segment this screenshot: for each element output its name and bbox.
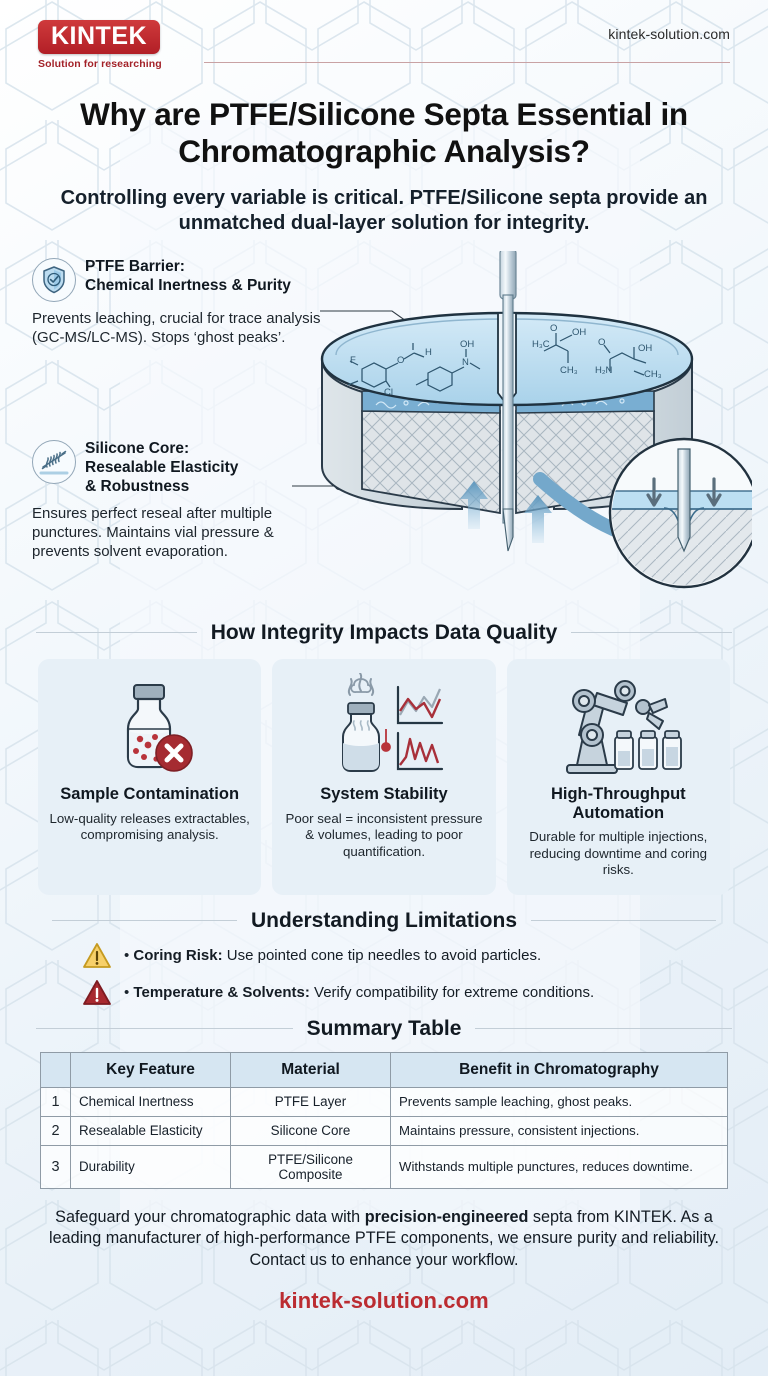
svg-text:N: N — [462, 357, 469, 368]
row-benefit: Maintains pressure, consistent injection… — [391, 1116, 728, 1145]
feature-ptfe-title-line1: PTFE Barrier: — [85, 258, 291, 277]
svg-text:CH₃: CH₃ — [644, 369, 662, 380]
svg-text:OH: OH — [638, 343, 652, 354]
impact-cards: Sample Contamination Low-quality release… — [38, 659, 730, 895]
footer-paragraph: Safeguard your chromatographic data with… — [48, 1207, 720, 1271]
page-header: KINTEK Solution for researching kintek-s… — [22, 0, 746, 78]
summary-table-head: Key Feature Material Benefit in Chromato… — [41, 1052, 728, 1087]
svg-text:O: O — [397, 355, 404, 366]
page-title: Why are PTFE/Silicone Septa Essential in… — [22, 96, 746, 170]
row-index: 2 — [41, 1116, 71, 1145]
septum-cutaway-illustration: F Cl O H N OH — [292, 251, 752, 626]
bullet-marker: • — [124, 947, 133, 964]
contaminated-vial-icon — [98, 671, 202, 779]
svg-text:OH: OH — [460, 339, 474, 350]
summary-table-body: 1 Chemical Inertness PTFE Layer Prevents… — [41, 1087, 728, 1188]
svg-text:CH₃: CH₃ — [560, 365, 578, 376]
limitation-text: • Temperature & Solvents: Verify compati… — [124, 983, 594, 1003]
impact-card-title: Sample Contamination — [60, 785, 239, 804]
divider-right — [475, 1028, 732, 1029]
feature-ptfe-barrier: PTFE Barrier: Chemical Inertness & Purit… — [32, 257, 332, 347]
divider-right — [531, 920, 716, 921]
row-benefit: Prevents sample leaching, ghost peaks. — [391, 1087, 728, 1116]
impact-card-body: Durable for multiple injections, reducin… — [516, 829, 721, 879]
footer-website-url[interactable]: kintek-solution.com — [48, 1288, 720, 1314]
limitation-detail: Use pointed cone tip needles to avoid pa… — [223, 947, 542, 964]
footer-text-before: Safeguard your chromatographic data with — [55, 1208, 365, 1226]
divider-left — [36, 1028, 293, 1029]
impact-card-title: System Stability — [320, 785, 447, 804]
header-website-url[interactable]: kintek-solution.com — [608, 26, 730, 42]
limitation-item-temperature-solvents: • Temperature & Solvents: Verify compati… — [38, 979, 730, 1007]
svg-text:O: O — [598, 337, 605, 348]
impact-card-sample-contamination[interactable]: Sample Contamination Low-quality release… — [38, 659, 261, 895]
footer-bold-phrase: precision-engineered — [365, 1208, 529, 1226]
svg-text:O: O — [550, 323, 557, 334]
limitation-label: Coring Risk: — [133, 947, 222, 964]
feature-silicone-title-line3: & Robustness — [85, 478, 238, 497]
feature-ptfe-body: Prevents leaching, crucial for trace ana… — [32, 309, 332, 347]
feature-ptfe-title: PTFE Barrier: Chemical Inertness & Purit… — [85, 257, 291, 296]
logo-tagline: Solution for researching — [38, 58, 238, 70]
impact-card-body: Poor seal = inconsistent pressure & volu… — [281, 811, 486, 861]
page-footer: Safeguard your chromatographic data with… — [48, 1207, 720, 1314]
row-feature: Resealable Elasticity — [71, 1116, 231, 1145]
summary-section-header: Summary Table — [36, 1017, 732, 1041]
feature-silicone-title-line1: Silicone Core: — [85, 440, 238, 459]
warning-triangle-yellow-icon — [80, 942, 114, 970]
limitations-section-title: Understanding Limitations — [251, 909, 517, 933]
column-header-key-feature: Key Feature — [71, 1052, 231, 1087]
column-header-benefit: Benefit in Chromatography — [391, 1052, 728, 1087]
evaporating-vial-chart-icon — [320, 671, 448, 779]
hero-diagram-section: PTFE Barrier: Chemical Inertness & Purit… — [22, 251, 746, 621]
row-feature: Durability — [71, 1145, 231, 1188]
limitation-text: • Coring Risk: Use pointed cone tip need… — [124, 946, 541, 966]
limitation-label: Temperature & Solvents: — [133, 984, 309, 1001]
row-feature: Chemical Inertness — [71, 1087, 231, 1116]
summary-table-wrapper: Key Feature Material Benefit in Chromato… — [40, 1052, 728, 1189]
summary-section-title: Summary Table — [307, 1017, 462, 1041]
row-material: Silicone Core — [231, 1116, 391, 1145]
bullet-marker: • — [124, 984, 133, 1001]
impact-card-title: High-Throughput Automation — [516, 785, 721, 822]
feature-silicone-core: Silicone Core: Resealable Elasticity & R… — [32, 439, 332, 561]
divider-right — [571, 632, 732, 633]
table-row: 3 Durability PTFE/Silicone Composite Wit… — [41, 1145, 728, 1188]
table-header-row: Key Feature Material Benefit in Chromato… — [41, 1052, 728, 1087]
impact-card-body: Low-quality releases extractables, compr… — [47, 811, 252, 844]
svg-text:OH: OH — [572, 327, 586, 338]
feature-silicone-body: Ensures perfect reseal after multiple pu… — [32, 504, 332, 562]
limitation-item-coring-risk: • Coring Risk: Use pointed cone tip need… — [38, 942, 730, 970]
row-benefit: Withstands multiple punctures, reduces d… — [391, 1145, 728, 1188]
robot-arm-vials-icon — [553, 671, 683, 779]
summary-table: Key Feature Material Benefit in Chromato… — [40, 1052, 728, 1189]
logo-text: KINTEK — [51, 22, 147, 50]
table-row: 2 Resealable Elasticity Silicone Core Ma… — [41, 1116, 728, 1145]
limitation-detail: Verify compatibility for extreme conditi… — [310, 984, 594, 1001]
svg-text:F: F — [350, 355, 356, 366]
shield-check-icon — [32, 258, 76, 302]
divider-left — [36, 632, 197, 633]
column-header-material: Material — [231, 1052, 391, 1087]
logo-badge: KINTEK — [38, 20, 160, 54]
impact-card-high-throughput[interactable]: High-Throughput Automation Durable for m… — [507, 659, 730, 895]
row-material: PTFE/Silicone Composite — [231, 1145, 391, 1188]
feature-silicone-title: Silicone Core: Resealable Elasticity & R… — [85, 439, 238, 497]
table-row: 1 Chemical Inertness PTFE Layer Prevents… — [41, 1087, 728, 1116]
feature-silicone-title-line2: Resealable Elasticity — [85, 459, 238, 478]
feature-ptfe-title-line2: Chemical Inertness & Purity — [85, 277, 291, 296]
svg-text:H₃C: H₃C — [532, 339, 550, 350]
svg-text:H: H — [425, 347, 432, 358]
column-header-index — [41, 1052, 71, 1087]
row-material: PTFE Layer — [231, 1087, 391, 1116]
warning-triangle-red-icon — [80, 979, 114, 1007]
limitations-section: Understanding Limitations • Coring Risk:… — [38, 909, 730, 1007]
page-subtitle: Controlling every variable is critical. … — [22, 186, 746, 237]
impact-card-system-stability[interactable]: System Stability Poor seal = inconsisten… — [272, 659, 495, 895]
divider-left — [52, 920, 237, 921]
row-index: 3 — [41, 1145, 71, 1188]
svg-text:Cl: Cl — [384, 387, 393, 398]
header-divider — [204, 62, 730, 63]
limitations-section-header: Understanding Limitations — [52, 909, 716, 933]
header-right: kintek-solution.com — [238, 20, 730, 44]
needle-coil-icon — [32, 440, 76, 484]
row-index: 1 — [41, 1087, 71, 1116]
